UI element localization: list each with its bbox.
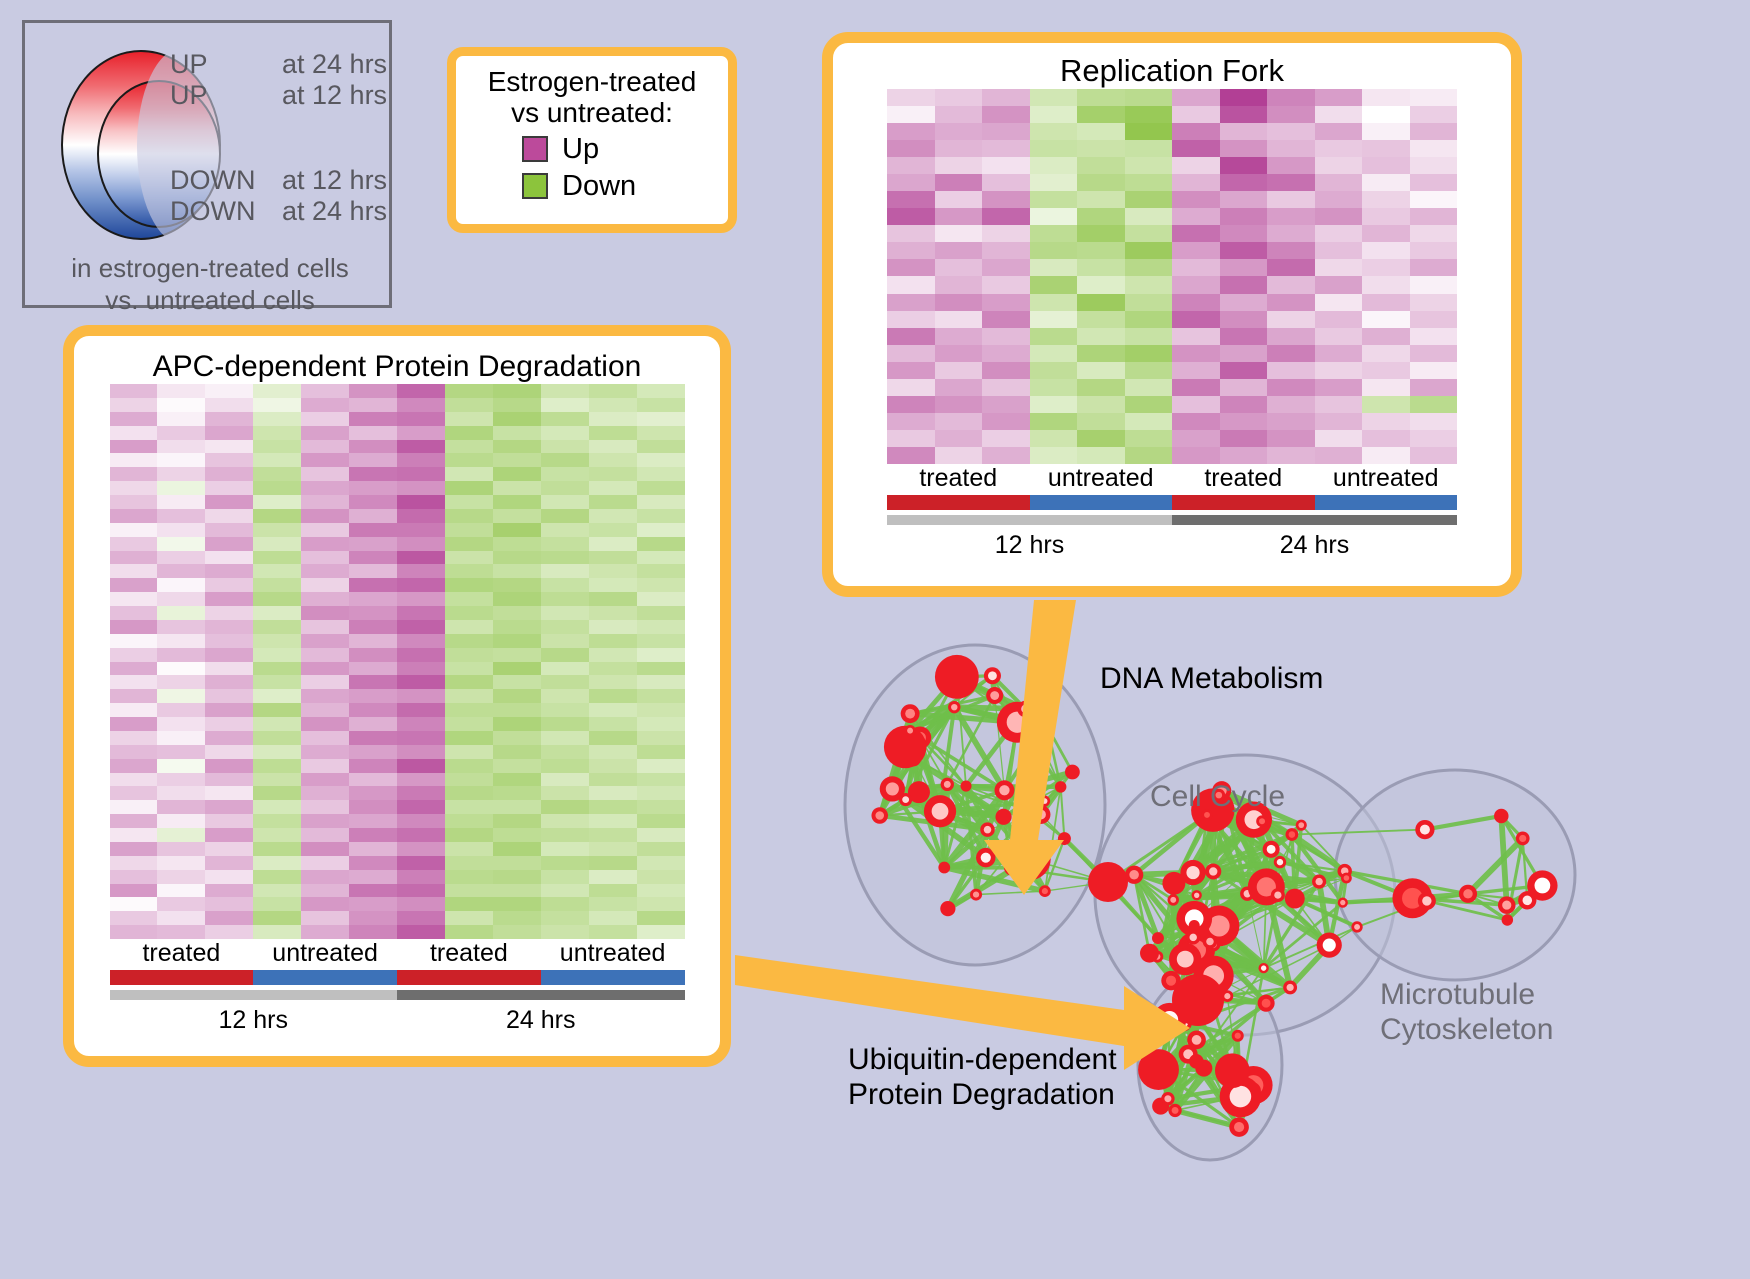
heatmap-cell bbox=[541, 564, 589, 578]
heatmap-cell bbox=[887, 328, 935, 345]
heatmap-cell bbox=[935, 328, 983, 345]
caption-line-1: in estrogen-treated cells bbox=[25, 253, 395, 285]
heatmap-cell bbox=[157, 440, 205, 454]
heatmap-cell bbox=[935, 311, 983, 328]
heatmap-cell bbox=[205, 773, 253, 787]
heatmap-cell bbox=[205, 578, 253, 592]
network-node[interactable] bbox=[941, 778, 954, 791]
heatmap-cell bbox=[541, 592, 589, 606]
heatmap-cell bbox=[157, 551, 205, 565]
heatmap-cell bbox=[637, 689, 685, 703]
heatmap-cell bbox=[1267, 157, 1315, 174]
network-node[interactable] bbox=[1274, 856, 1286, 868]
heatmap-cell bbox=[157, 606, 205, 620]
network-node[interactable] bbox=[1502, 914, 1513, 925]
heatmap-cell bbox=[349, 703, 397, 717]
heatmap-cell bbox=[349, 870, 397, 884]
heatmap-cell bbox=[157, 495, 205, 509]
heatmap-cell bbox=[982, 276, 1030, 293]
bar-seg-treated-24 bbox=[1172, 495, 1315, 510]
heatmap-cell bbox=[205, 842, 253, 856]
heatmap-cell bbox=[445, 856, 493, 870]
network-node[interactable] bbox=[1498, 896, 1516, 914]
network-node[interactable] bbox=[1285, 889, 1305, 909]
heatmap-cell bbox=[541, 856, 589, 870]
network-node[interactable] bbox=[1283, 980, 1297, 994]
network-node[interactable] bbox=[1039, 885, 1051, 897]
heatmap-cell bbox=[301, 856, 349, 870]
heatmap-cell bbox=[445, 703, 493, 717]
node-inner-fill bbox=[1036, 810, 1046, 820]
node-inner-fill bbox=[1422, 896, 1431, 905]
heatmap-cell bbox=[637, 731, 685, 745]
network-node[interactable] bbox=[1152, 932, 1164, 944]
heatmap-cell bbox=[1362, 225, 1410, 242]
heatmap-cell bbox=[110, 689, 158, 703]
heatmap-cell bbox=[589, 453, 637, 467]
heatmap-cell bbox=[1410, 345, 1458, 362]
heatmap-cell bbox=[1077, 106, 1125, 123]
heatmap-cell bbox=[205, 828, 253, 842]
heatmap-cell bbox=[445, 828, 493, 842]
heatmap-cell bbox=[253, 509, 301, 523]
network-node[interactable] bbox=[924, 795, 956, 827]
key-title-line-2: vs untreated: bbox=[456, 97, 728, 128]
heatmap-cell bbox=[157, 592, 205, 606]
heatmap-cell bbox=[1125, 276, 1173, 293]
heatmap-cell bbox=[205, 440, 253, 454]
network-node[interactable] bbox=[1338, 897, 1348, 907]
network-node[interactable] bbox=[1004, 860, 1020, 876]
heatmap-cell bbox=[349, 564, 397, 578]
heatmap-cell bbox=[1220, 259, 1268, 276]
node-inner-fill bbox=[1289, 831, 1296, 838]
heatmap-cell bbox=[301, 814, 349, 828]
heatmap-cell bbox=[1030, 362, 1078, 379]
heatmap-cell bbox=[935, 430, 983, 447]
network-node[interactable] bbox=[1415, 820, 1434, 839]
heatmap-cell bbox=[1267, 362, 1315, 379]
network-node[interactable] bbox=[1285, 828, 1298, 841]
cluster-label-cell-cycle: Cell Cycle bbox=[1150, 780, 1285, 814]
heatmap-cell bbox=[982, 140, 1030, 157]
heatmap-cell bbox=[349, 606, 397, 620]
heatmap-cell bbox=[1125, 447, 1173, 464]
heatmap-cell bbox=[445, 634, 493, 648]
network-node[interactable] bbox=[1065, 765, 1080, 780]
network-node[interactable] bbox=[1418, 892, 1436, 910]
heatmap-cell bbox=[253, 481, 301, 495]
network-node[interactable] bbox=[1168, 1104, 1181, 1117]
heatmap-cell bbox=[205, 551, 253, 565]
heatmap-cell bbox=[887, 174, 935, 191]
network-node[interactable] bbox=[1296, 820, 1307, 831]
heatmap-cell bbox=[493, 412, 541, 426]
heatmap-cell bbox=[1220, 413, 1268, 430]
heatmap-cell bbox=[982, 242, 1030, 259]
heatmap-cell bbox=[205, 509, 253, 523]
heatmap-cell bbox=[445, 398, 493, 412]
heatmap-cell bbox=[205, 537, 253, 551]
network-node[interactable] bbox=[948, 701, 960, 713]
network-node[interactable] bbox=[1258, 995, 1275, 1012]
heatmap-cell bbox=[110, 440, 158, 454]
network-node[interactable] bbox=[1039, 795, 1050, 806]
network-node[interactable] bbox=[1205, 863, 1221, 879]
heatmap-cell bbox=[157, 842, 205, 856]
network-node[interactable] bbox=[1232, 1030, 1244, 1042]
heatmap-cell bbox=[1030, 225, 1078, 242]
bar-seg-treated-12 bbox=[110, 970, 254, 985]
heatmap-cell bbox=[205, 481, 253, 495]
heatmap-cell bbox=[110, 592, 158, 606]
network-node[interactable] bbox=[1312, 875, 1326, 889]
heatmap-cell bbox=[589, 481, 637, 495]
heatmap-cell bbox=[445, 675, 493, 689]
network-node[interactable] bbox=[994, 780, 1014, 800]
heatmap-cell bbox=[253, 675, 301, 689]
heatmap-cell bbox=[589, 786, 637, 800]
heatmap-cell bbox=[1030, 157, 1078, 174]
network-node[interactable] bbox=[1516, 832, 1530, 846]
heatmap-cell bbox=[1125, 345, 1173, 362]
network-node[interactable] bbox=[1180, 860, 1205, 885]
heatmap-cell bbox=[1267, 294, 1315, 311]
heatmap-cell bbox=[349, 662, 397, 676]
heatmap-cell bbox=[1410, 89, 1458, 106]
heatmap-cell bbox=[301, 551, 349, 565]
network-node[interactable] bbox=[1186, 930, 1200, 944]
heatmap-cell bbox=[589, 551, 637, 565]
network-node[interactable] bbox=[995, 809, 1011, 825]
network-node[interactable] bbox=[1341, 873, 1352, 884]
heatmap-cell bbox=[110, 384, 158, 398]
network-node[interactable] bbox=[1189, 1054, 1204, 1069]
network-node[interactable] bbox=[984, 667, 1001, 684]
heatmap-cell bbox=[1410, 311, 1458, 328]
heatmap-cell bbox=[301, 745, 349, 759]
heatmap-cell bbox=[493, 523, 541, 537]
heatmap-cell bbox=[253, 897, 301, 911]
heatmap-cell bbox=[589, 537, 637, 551]
heatmap-cell bbox=[1267, 140, 1315, 157]
network-node[interactable] bbox=[1258, 963, 1268, 973]
heatmap-cell bbox=[157, 689, 205, 703]
heatmap-cell bbox=[1077, 242, 1125, 259]
heatmap-cell bbox=[445, 884, 493, 898]
heatmap-cell bbox=[493, 897, 541, 911]
heatmap-cell bbox=[157, 509, 205, 523]
heatmap-cell bbox=[493, 911, 541, 925]
heatmap-cell bbox=[589, 828, 637, 842]
heatmap-cell bbox=[1315, 311, 1363, 328]
network-node[interactable] bbox=[1055, 781, 1067, 793]
heatmap-cell bbox=[887, 294, 935, 311]
heatmap-cell bbox=[301, 689, 349, 703]
heatmap-cell bbox=[1362, 123, 1410, 140]
heatmap-cell bbox=[445, 620, 493, 634]
node-inner-fill bbox=[1519, 835, 1526, 842]
heatmap-cell bbox=[541, 842, 589, 856]
heatmap-cell bbox=[349, 773, 397, 787]
heatmap-cell bbox=[1125, 294, 1173, 311]
heatmap-cell bbox=[1315, 396, 1363, 413]
heatmap-cell bbox=[253, 662, 301, 676]
heatmap-cell bbox=[1077, 447, 1125, 464]
node-inner-fill bbox=[1172, 1107, 1179, 1114]
network-node[interactable] bbox=[938, 862, 950, 874]
cluster-label-dna-metabolism: DNA Metabolism bbox=[1100, 662, 1323, 696]
heatmap-cell bbox=[397, 509, 445, 523]
heatmap-cell bbox=[493, 634, 541, 648]
network-node[interactable] bbox=[976, 848, 995, 867]
heatmap-cell bbox=[205, 675, 253, 689]
bar-seg-24hrs bbox=[1172, 515, 1457, 525]
heatmap-cell bbox=[397, 551, 445, 565]
network-node[interactable] bbox=[970, 889, 982, 901]
heatmap-cell bbox=[637, 703, 685, 717]
heatmap-cell bbox=[982, 294, 1030, 311]
heatmap-cell bbox=[157, 884, 205, 898]
heatmap-cell bbox=[1125, 191, 1173, 208]
network-node[interactable] bbox=[1203, 934, 1217, 948]
heatmap-cell bbox=[205, 398, 253, 412]
network-node[interactable] bbox=[1140, 944, 1159, 963]
heatmap-cell bbox=[253, 495, 301, 509]
node-inner-fill bbox=[981, 853, 991, 863]
heatmap-cell bbox=[935, 396, 983, 413]
node-inner-fill bbox=[1209, 867, 1217, 875]
network-node[interactable] bbox=[1189, 920, 1200, 931]
heatmap-cell bbox=[445, 453, 493, 467]
heatmap-cell bbox=[157, 870, 205, 884]
network-node[interactable] bbox=[960, 781, 971, 792]
heatmap-cell bbox=[637, 620, 685, 634]
heatmap-cell bbox=[349, 384, 397, 398]
heatmap-cell bbox=[1410, 174, 1458, 191]
heatmap-cell bbox=[301, 426, 349, 440]
heatmap-cell bbox=[541, 897, 589, 911]
heatmap-cell bbox=[1125, 311, 1173, 328]
heatmap-cell bbox=[1315, 328, 1363, 345]
node-inner-fill bbox=[907, 728, 913, 734]
heatmap-cell bbox=[637, 884, 685, 898]
heatmap-cell bbox=[1362, 379, 1410, 396]
heatmap-cell bbox=[541, 578, 589, 592]
heatmap-cell bbox=[1220, 208, 1268, 225]
network-node[interactable] bbox=[1161, 1092, 1174, 1105]
heatmap-cell bbox=[349, 842, 397, 856]
heatmap-cell bbox=[982, 225, 1030, 242]
heatmap-cell bbox=[982, 157, 1030, 174]
heatmap-cell bbox=[349, 925, 397, 939]
network-node[interactable] bbox=[1317, 933, 1342, 958]
heatmap-cell bbox=[1172, 294, 1220, 311]
network-node[interactable] bbox=[1138, 1049, 1179, 1090]
timepoint-color-bar bbox=[887, 515, 1457, 525]
network-node[interactable] bbox=[980, 822, 995, 837]
network-node[interactable] bbox=[1172, 974, 1224, 1026]
node-inner-fill bbox=[1224, 993, 1230, 999]
circle-legend-caption: in estrogen-treated cells vs. untreated … bbox=[25, 253, 395, 316]
heatmap-cell bbox=[110, 675, 158, 689]
heatmap-cell bbox=[157, 856, 205, 870]
network-node[interactable] bbox=[1168, 894, 1179, 905]
heatmap-cell bbox=[397, 440, 445, 454]
heatmap-cell bbox=[1267, 328, 1315, 345]
network-node[interactable] bbox=[1215, 1053, 1250, 1088]
network-node[interactable] bbox=[986, 687, 1003, 704]
network-node[interactable] bbox=[1263, 841, 1280, 858]
network-node[interactable] bbox=[1256, 815, 1268, 827]
node-inner-fill bbox=[905, 709, 915, 719]
heatmap-cell bbox=[637, 467, 685, 481]
network-node[interactable] bbox=[1494, 809, 1508, 823]
heatmap-cell bbox=[397, 675, 445, 689]
heatmap-cell bbox=[1315, 106, 1363, 123]
node-inner-fill bbox=[1298, 822, 1304, 828]
network-node[interactable] bbox=[1192, 890, 1202, 900]
heatmap-cell bbox=[541, 467, 589, 481]
heatmap-cell bbox=[110, 606, 158, 620]
heatmap-cell bbox=[493, 773, 541, 787]
heatmap-cell bbox=[1362, 311, 1410, 328]
network-node[interactable] bbox=[935, 655, 979, 699]
heatmap-cell bbox=[301, 786, 349, 800]
heatmap-cell bbox=[1315, 191, 1363, 208]
network-node[interactable] bbox=[1058, 832, 1071, 845]
node-inner-fill bbox=[988, 671, 997, 680]
heatmap-cell bbox=[253, 911, 301, 925]
bar-seg-24hrs bbox=[397, 990, 685, 1000]
heatmap-cell bbox=[397, 564, 445, 578]
heatmap-cell bbox=[1220, 174, 1268, 191]
heatmap-cell bbox=[1172, 89, 1220, 106]
heatmap-cell bbox=[1410, 362, 1458, 379]
heatmap-cell bbox=[205, 412, 253, 426]
heatmap-cell bbox=[157, 662, 205, 676]
heatmap-cell bbox=[493, 828, 541, 842]
network-node[interactable] bbox=[1459, 885, 1477, 903]
treatment-color-bar bbox=[887, 495, 1457, 510]
heatmap-cell bbox=[253, 814, 301, 828]
heatmap-cell bbox=[887, 396, 935, 413]
network-node[interactable] bbox=[1042, 721, 1053, 732]
heatmap-cell bbox=[1410, 379, 1458, 396]
heatmap-cell bbox=[637, 925, 685, 939]
network-node[interactable] bbox=[1271, 888, 1285, 902]
network-node[interactable] bbox=[901, 704, 920, 723]
network-node[interactable] bbox=[1088, 862, 1128, 902]
node-inner-fill bbox=[886, 782, 899, 795]
heatmap-cell bbox=[157, 412, 205, 426]
heatmap-cell bbox=[637, 606, 685, 620]
network-node[interactable] bbox=[904, 725, 915, 736]
heatmap-cell bbox=[541, 745, 589, 759]
heatmap-cell bbox=[1172, 396, 1220, 413]
heatmap-cell bbox=[1315, 140, 1363, 157]
heatmap-cell bbox=[445, 509, 493, 523]
legend-value: at 24 hrs bbox=[282, 49, 387, 80]
heatmap-cell bbox=[589, 384, 637, 398]
heatmap-cell bbox=[349, 453, 397, 467]
heatmap-cell bbox=[637, 412, 685, 426]
network-node[interactable] bbox=[940, 901, 955, 916]
heatmap-cell bbox=[1267, 123, 1315, 140]
heatmap-cell bbox=[1030, 191, 1078, 208]
timepoint-color-bar bbox=[110, 990, 685, 1000]
node-inner-fill bbox=[1354, 924, 1360, 930]
node-inner-fill bbox=[1186, 866, 1199, 879]
heatmap-cell bbox=[1362, 362, 1410, 379]
node-inner-fill bbox=[875, 811, 884, 820]
heatmap-cell bbox=[1077, 379, 1125, 396]
heatmap-cell bbox=[887, 89, 935, 106]
heatmap-cell bbox=[205, 814, 253, 828]
heatmap-cell bbox=[493, 467, 541, 481]
heatmap-cell bbox=[982, 89, 1030, 106]
heatmap-cell bbox=[1077, 123, 1125, 140]
heatmap-cell bbox=[1267, 447, 1315, 464]
node-inner-fill bbox=[1534, 878, 1550, 894]
heatmap-cell bbox=[1172, 430, 1220, 447]
heatmap-cell bbox=[1125, 140, 1173, 157]
heatmap-cell bbox=[637, 495, 685, 509]
heatmap-cell bbox=[1410, 208, 1458, 225]
heatmap-cell bbox=[1172, 106, 1220, 123]
heatmap-cell bbox=[397, 398, 445, 412]
network-node[interactable] bbox=[1229, 1117, 1249, 1137]
heatmap-cell bbox=[157, 786, 205, 800]
network-node[interactable] bbox=[871, 807, 888, 824]
heatmap-cell bbox=[445, 606, 493, 620]
heatmap-cell bbox=[205, 759, 253, 773]
heatmap-cell bbox=[397, 481, 445, 495]
heatmap-cell bbox=[1220, 276, 1268, 293]
network-node[interactable] bbox=[1527, 870, 1557, 900]
heatmap-cell bbox=[157, 800, 205, 814]
heatmap-cell bbox=[445, 648, 493, 662]
heatmap-cell bbox=[589, 759, 637, 773]
network-node[interactable] bbox=[1351, 921, 1362, 932]
heatmap-cell bbox=[1315, 174, 1363, 191]
heatmap-cell bbox=[541, 814, 589, 828]
network-node[interactable] bbox=[1032, 805, 1051, 824]
heatmap-cell bbox=[935, 413, 983, 430]
heatmap-cell bbox=[1220, 430, 1268, 447]
heatmap-cell bbox=[1077, 311, 1125, 328]
heatmap-cell bbox=[935, 140, 983, 157]
heatmap-cell bbox=[887, 276, 935, 293]
network-node[interactable] bbox=[899, 793, 912, 806]
heatmap-cell bbox=[589, 856, 637, 870]
heatmap-cell bbox=[397, 578, 445, 592]
heatmap-cell bbox=[157, 759, 205, 773]
heatmap-cell bbox=[1315, 430, 1363, 447]
heatmap-cell bbox=[205, 856, 253, 870]
heatmap-cell bbox=[541, 440, 589, 454]
heatmap-cell bbox=[637, 440, 685, 454]
network-node[interactable] bbox=[1017, 701, 1033, 717]
heatmap-cell bbox=[253, 398, 301, 412]
legend-key: UP bbox=[170, 49, 282, 80]
heatmap-cell bbox=[637, 870, 685, 884]
heatmap-cell bbox=[637, 537, 685, 551]
heatmap-cell bbox=[1077, 157, 1125, 174]
heatmap-cell bbox=[1220, 157, 1268, 174]
heatmap-cell bbox=[887, 208, 935, 225]
heatmap-cell bbox=[493, 537, 541, 551]
